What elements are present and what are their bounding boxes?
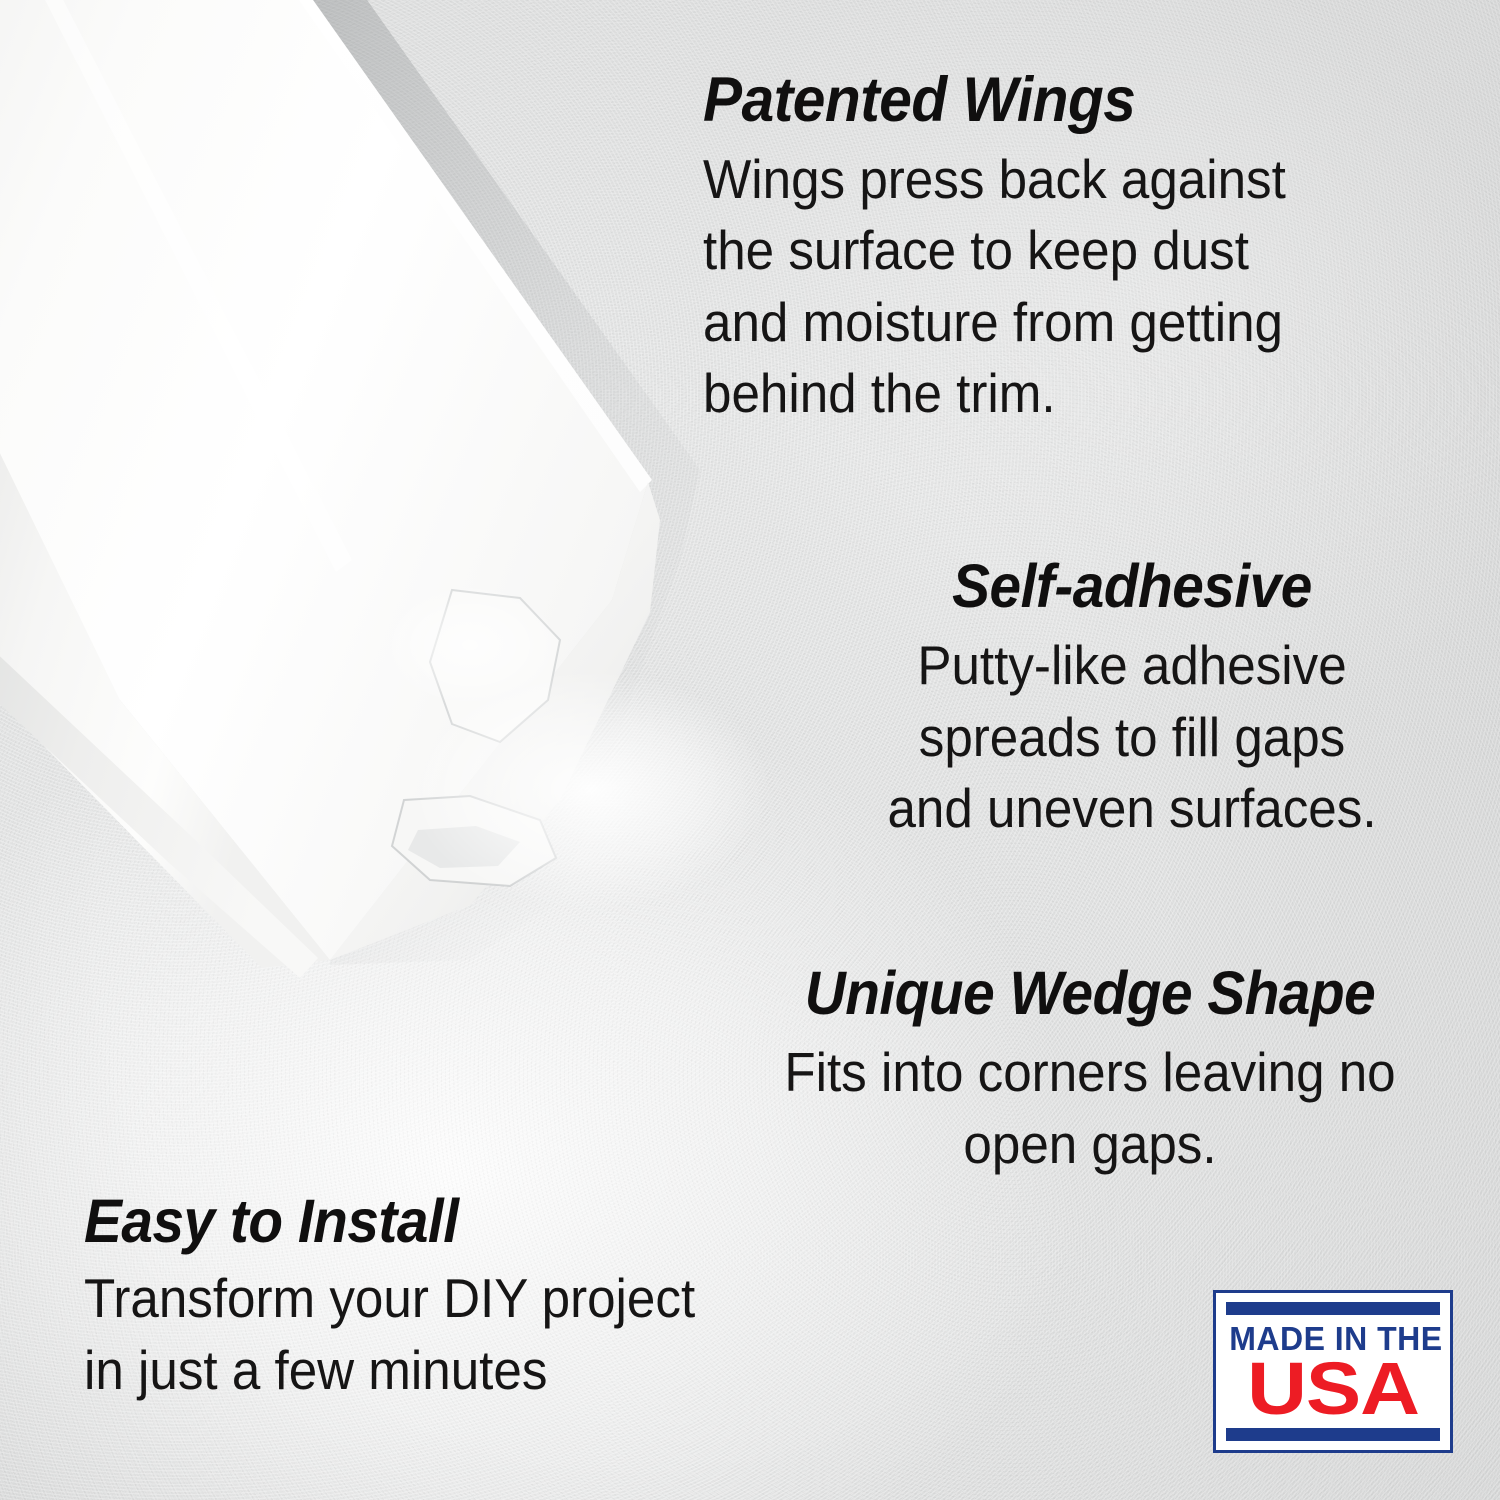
badge-usa-text: USA [1213,1359,1453,1418]
badge-top-bar [1226,1302,1440,1315]
feature-block-patented-wings: Patented Wings Wings press back against … [703,68,1383,430]
feature-heading-unique-wedge-shape: Unique Wedge Shape [759,962,1421,1025]
made-in-usa-badge: MADE IN THE USA [1213,1290,1453,1453]
feature-heading-self-adhesive: Self-adhesive [872,555,1393,618]
feature-block-self-adhesive: Self-adhesive Putty-like adhesive spread… [852,555,1412,845]
feature-body-unique-wedge-shape: Fits into corners leaving no open gaps. [759,1037,1421,1180]
feature-body-patented-wings: Wings press back against the surface to … [703,144,1335,430]
feature-body-easy-to-install: Transform your DIY project in just a few… [84,1263,735,1406]
feature-block-unique-wedge-shape: Unique Wedge Shape Fits into corners lea… [734,962,1446,1180]
feature-block-easy-to-install: Easy to Install Transform your DIY proje… [84,1190,784,1406]
feature-heading-patented-wings: Patented Wings [703,68,1335,134]
feature-body-self-adhesive: Putty-like adhesive spreads to fill gaps… [872,630,1393,845]
feature-heading-easy-to-install: Easy to Install [84,1190,735,1253]
infographic-canvas: Patented Wings Wings press back against … [0,0,1500,1500]
badge-inner-panel: MADE IN THE USA [1216,1293,1450,1450]
